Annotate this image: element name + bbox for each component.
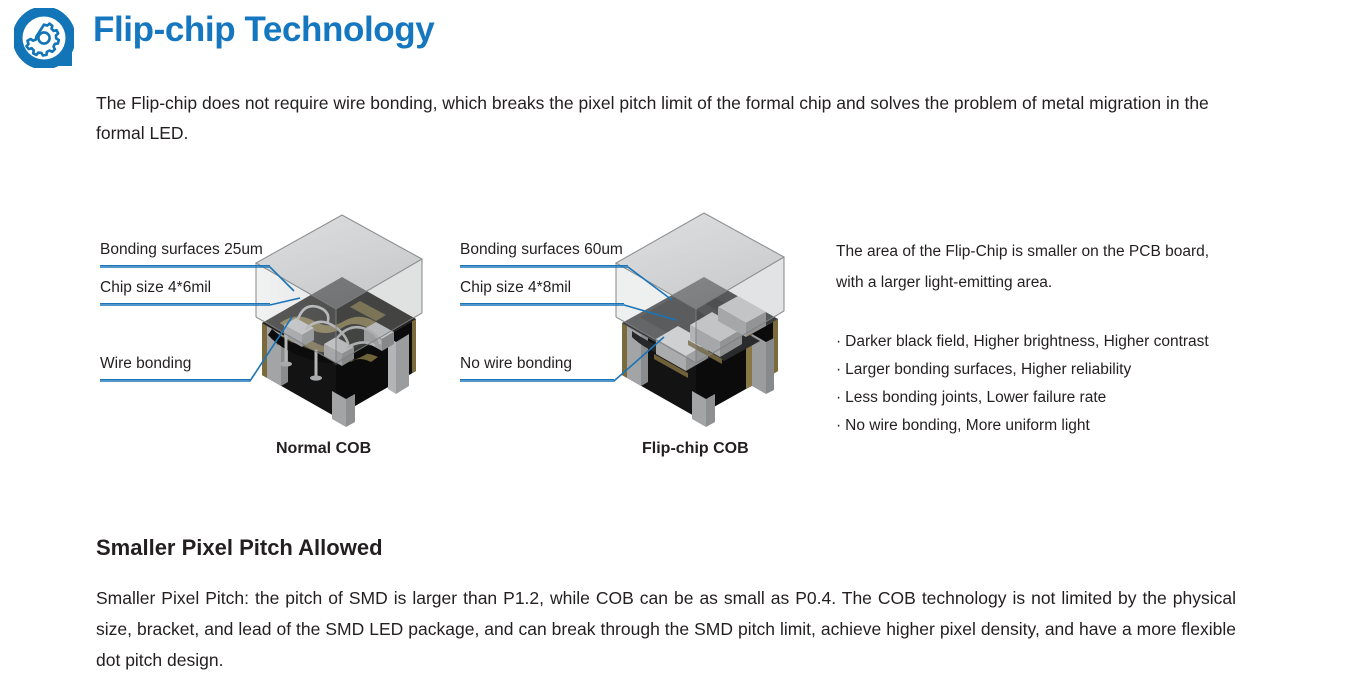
callout-chip-size-4x8mil: Chip size 4*8mil: [460, 279, 571, 297]
list-item: ·No wire bonding, More uniform light: [836, 412, 1256, 440]
callout-no-wire-bonding: No wire bonding: [460, 355, 572, 373]
section-heading-smaller-pixel-pitch: Smaller Pixel Pitch Allowed: [96, 535, 383, 561]
flipchip-cob-3d-render: [596, 205, 811, 435]
figure-band: Bonding surfaces 25um Chip size 4*6mil W…: [0, 195, 1368, 485]
callout-rule-6: [460, 379, 614, 380]
list-item-label: Less bonding joints, Lower failure rate: [845, 389, 1106, 406]
list-item: ·Darker black field, Higher brightness, …: [836, 328, 1256, 356]
benefits-list: ·Darker black field, Higher brightness, …: [836, 328, 1256, 440]
side-lead-text: The area of the Flip-Chip is smaller on …: [836, 236, 1256, 298]
callout-wire-bonding: Wire bonding: [100, 355, 191, 373]
intro-paragraph: The Flip-chip does not require wire bond…: [96, 88, 1236, 148]
callout-rule-3: [100, 379, 250, 380]
bottom-paragraph: Smaller Pixel Pitch: the pitch of SMD is…: [96, 583, 1236, 676]
list-item-label: Darker black field, Higher brightness, H…: [845, 333, 1209, 350]
normal-cob-3d-render: [236, 205, 446, 435]
side-text-column: The area of the Flip-Chip is smaller on …: [836, 236, 1256, 440]
side-lead-line-2: with a larger light-emitting area.: [836, 267, 1256, 298]
figure-caption-flipchip-cob: Flip-chip COB: [642, 440, 749, 458]
figure-caption-normal-cob: Normal COB: [276, 440, 371, 458]
callout-bonding-surfaces-25um: Bonding surfaces 25um: [100, 241, 263, 259]
list-item-label: No wire bonding, More uniform light: [845, 417, 1090, 434]
bullet-marker: ·: [836, 361, 841, 378]
callout-rule-5: [460, 303, 624, 304]
bullet-marker: ·: [836, 417, 841, 434]
page-header: Flip-chip Technology: [0, 0, 1368, 78]
figure-normal-cob: Bonding surfaces 25um Chip size 4*6mil W…: [96, 195, 456, 485]
bullet-marker: ·: [836, 333, 841, 350]
callout-chip-size-4x6mil: Chip size 4*6mil: [100, 279, 211, 297]
list-item: ·Larger bonding surfaces, Higher reliabi…: [836, 356, 1256, 384]
figure-flipchip-cob: Bonding surfaces 60um Chip size 4*8mil N…: [456, 195, 816, 485]
gear-icon: [14, 8, 74, 68]
bullet-marker: ·: [836, 389, 841, 406]
list-item: ·Less bonding joints, Lower failure rate: [836, 384, 1256, 412]
callout-rule-4: [460, 265, 628, 266]
callout-rule-1: [100, 265, 270, 266]
page-title: Flip-chip Technology: [93, 10, 434, 50]
callout-rule-2: [100, 303, 270, 304]
list-item-label: Larger bonding surfaces, Higher reliabil…: [845, 361, 1131, 378]
callout-bonding-surfaces-60um: Bonding surfaces 60um: [460, 241, 623, 259]
side-lead-line-1: The area of the Flip-Chip is smaller on …: [836, 236, 1256, 267]
